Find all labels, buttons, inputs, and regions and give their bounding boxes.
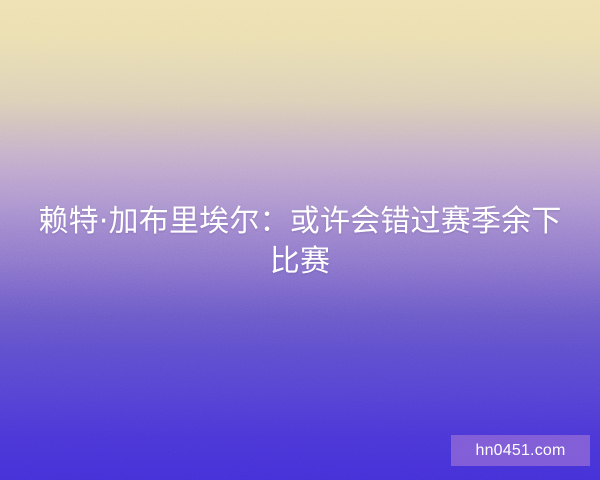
page-title: 赖特·加布里埃尔：或许会错过赛季余下比赛 — [30, 202, 570, 282]
watermark-label: hn0451.com — [475, 443, 565, 459]
watermark-badge: hn0451.com — [451, 435, 590, 466]
headline-block: 赖特·加布里埃尔：或许会错过赛季余下比赛 — [0, 202, 600, 282]
article-banner: 赖特·加布里埃尔：或许会错过赛季余下比赛 hn0451.com — [0, 0, 600, 480]
